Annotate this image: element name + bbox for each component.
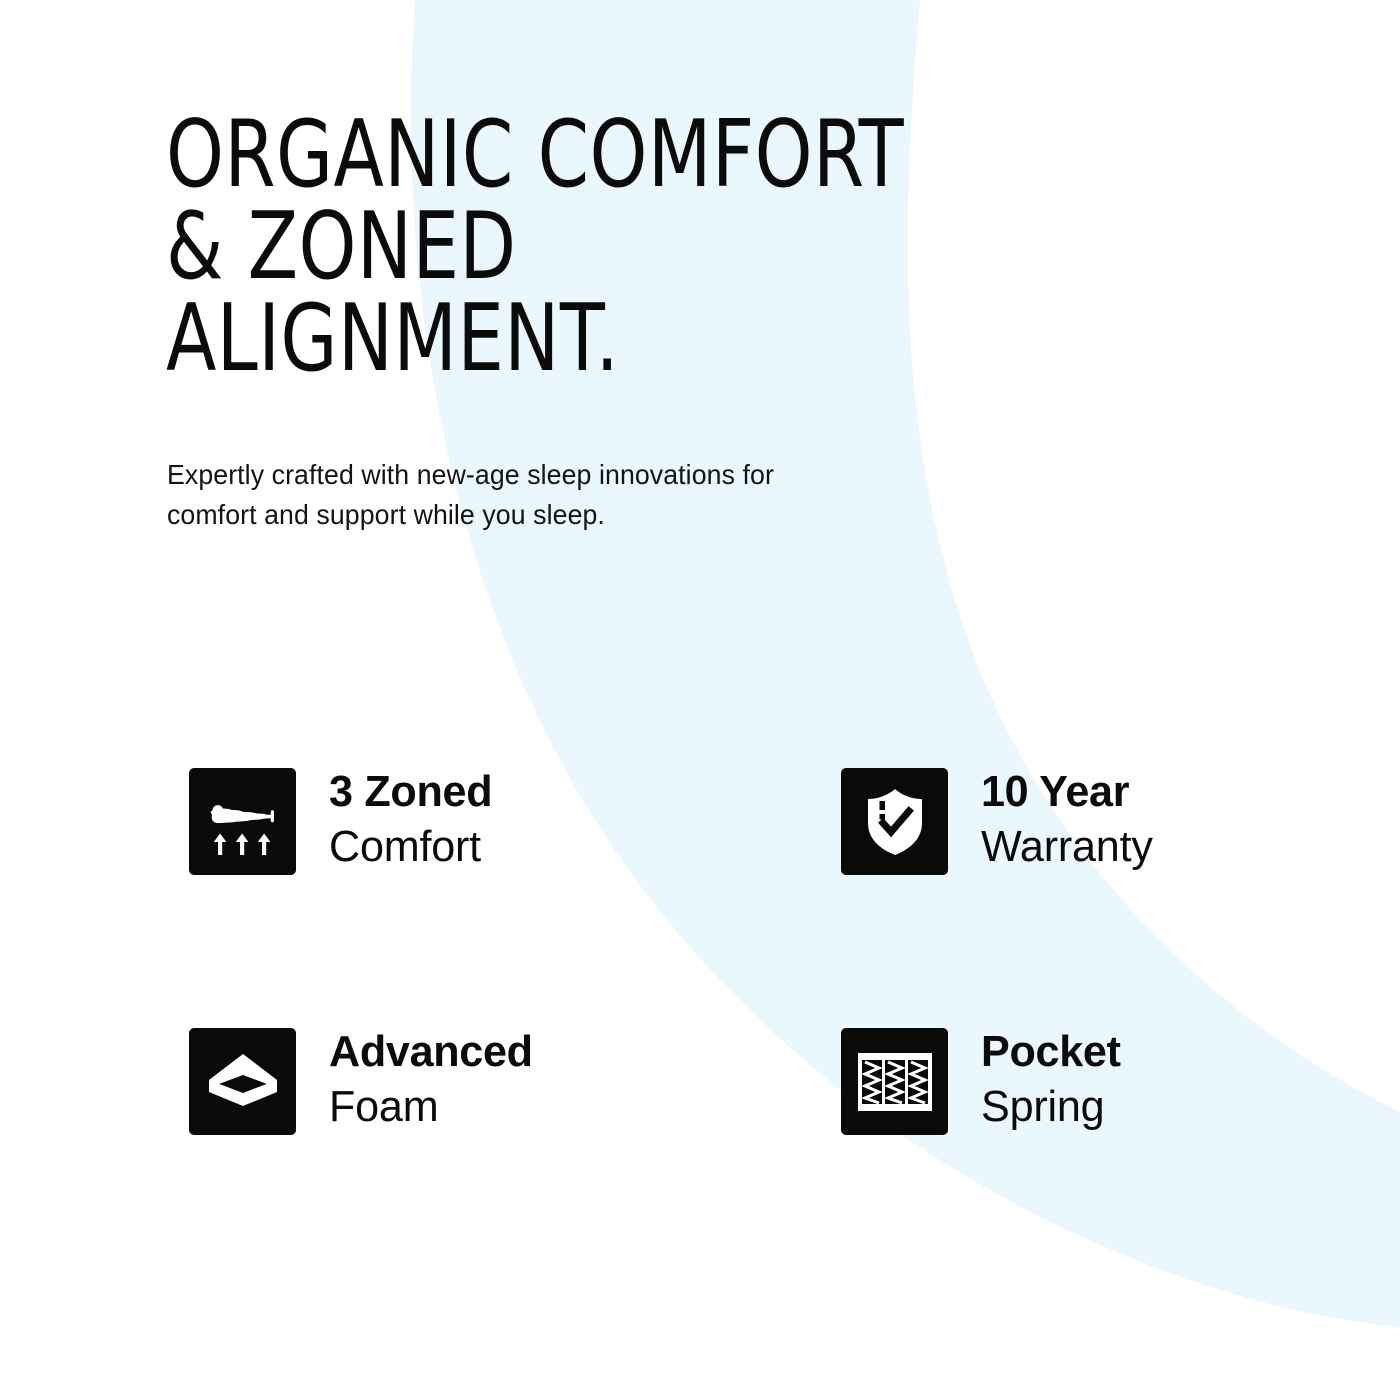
feature-title: Advanced	[329, 1024, 533, 1079]
person-zones-arrows-icon	[189, 768, 296, 875]
feature-title: Pocket	[981, 1024, 1121, 1079]
feature-subtitle: Spring	[981, 1079, 1121, 1134]
feature-label-block: 10 Year Warranty	[981, 764, 1156, 874]
hero-subtitle: Expertly crafted with new-age sleep inno…	[167, 455, 933, 535]
feature-title: 3 Zoned	[329, 764, 492, 819]
feature-item-advanced-foam: Advanced Foam	[189, 1028, 841, 1288]
promo-banner: ORGANIC COMFORT & ZONED ALIGNMENT. Exper…	[0, 0, 1400, 1400]
shield-check-icon	[841, 768, 948, 875]
feature-item-pocket-spring: Pocket Spring	[841, 1028, 1249, 1288]
feature-label-block: 3 Zoned Comfort	[329, 764, 496, 874]
page-title: ORGANIC COMFORT & ZONED ALIGNMENT.	[166, 108, 1046, 384]
feature-label-block: Pocket Spring	[981, 1024, 1124, 1134]
feature-item-warranty: 10 Year Warranty	[841, 768, 1249, 1028]
feature-grid: 3 Zoned Comfort 10 Year Warranty	[189, 768, 1249, 1288]
foam-block-icon	[189, 1028, 296, 1135]
pocket-spring-icon	[841, 1028, 948, 1135]
feature-subtitle: Comfort	[329, 819, 492, 874]
feature-subtitle: Foam	[329, 1079, 533, 1134]
feature-title: 10 Year	[981, 764, 1153, 819]
feature-subtitle: Warranty	[981, 819, 1153, 874]
feature-item-zoned-comfort: 3 Zoned Comfort	[189, 768, 841, 1028]
feature-label-block: Advanced Foam	[329, 1024, 537, 1134]
